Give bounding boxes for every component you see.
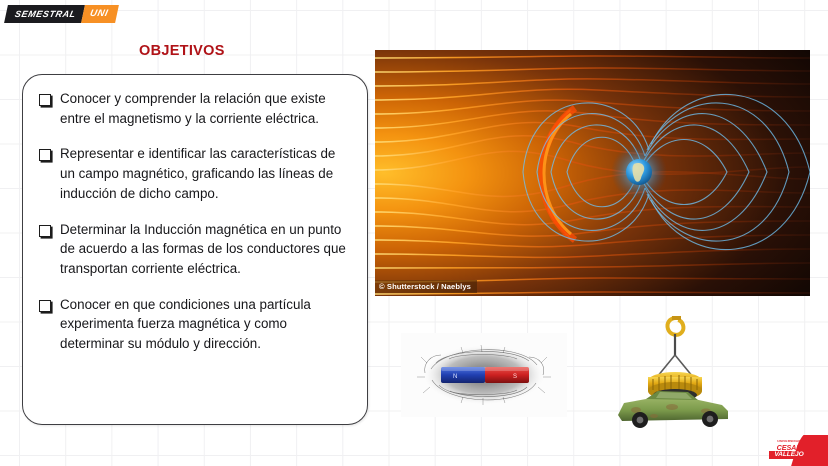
empty-checkbox-icon <box>39 94 51 106</box>
empty-checkbox-icon <box>39 300 51 312</box>
list-item: Conocer y comprender la relación que exi… <box>39 89 353 128</box>
list-item-label: Conocer en que condiciones una partícula… <box>60 295 353 354</box>
list-item: Representar e identificar las caracterís… <box>39 144 353 203</box>
list-item-label: Determinar la Inducción magnética en un … <box>60 220 353 279</box>
objectives-panel: Conocer y comprender la relación que exi… <box>22 74 368 425</box>
scrap-car <box>618 391 728 428</box>
image-watermark: © Shutterstock / Naeblys <box>375 280 477 293</box>
earth-magnetosphere-image: © Shutterstock / Naeblys <box>375 50 810 296</box>
electromagnet-crane-image <box>602 315 740 432</box>
logo-badge: UNIVERSIDAD CESAR VALLEJO <box>769 440 809 459</box>
slide-canvas: SEMESTRAL UNI OBJETIVOS Conocer y compre… <box>0 0 828 466</box>
bar-magnet-graphic: N S <box>401 333 567 417</box>
cesar-vallejo-logo: UNIVERSIDAD CESAR VALLEJO <box>760 435 828 466</box>
svg-text:S: S <box>513 374 517 380</box>
empty-checkbox-icon <box>39 225 51 237</box>
logo-uni-label: UNI <box>81 5 119 23</box>
semestral-uni-logo: SEMESTRAL UNI <box>4 5 119 23</box>
list-item: Determinar la Inducción magnética en un … <box>39 220 353 279</box>
logo-line-vallejo: VALLEJO <box>769 451 809 459</box>
list-item-label: Representar e identificar las caracterís… <box>60 144 353 203</box>
crane-car-graphic <box>602 315 740 432</box>
bar-magnet-image: N S <box>401 333 567 417</box>
list-item: Conocer en que condiciones una partícula… <box>39 295 353 354</box>
list-item-label: Conocer y comprender la relación que exi… <box>60 89 353 128</box>
empty-checkbox-icon <box>39 149 51 161</box>
logo-semestral-label: SEMESTRAL <box>4 5 85 23</box>
svg-text:N: N <box>453 374 457 380</box>
crane-hook <box>667 316 683 335</box>
magnetic-field-lines-graphic <box>375 50 810 296</box>
page-title: OBJETIVOS <box>139 43 225 59</box>
